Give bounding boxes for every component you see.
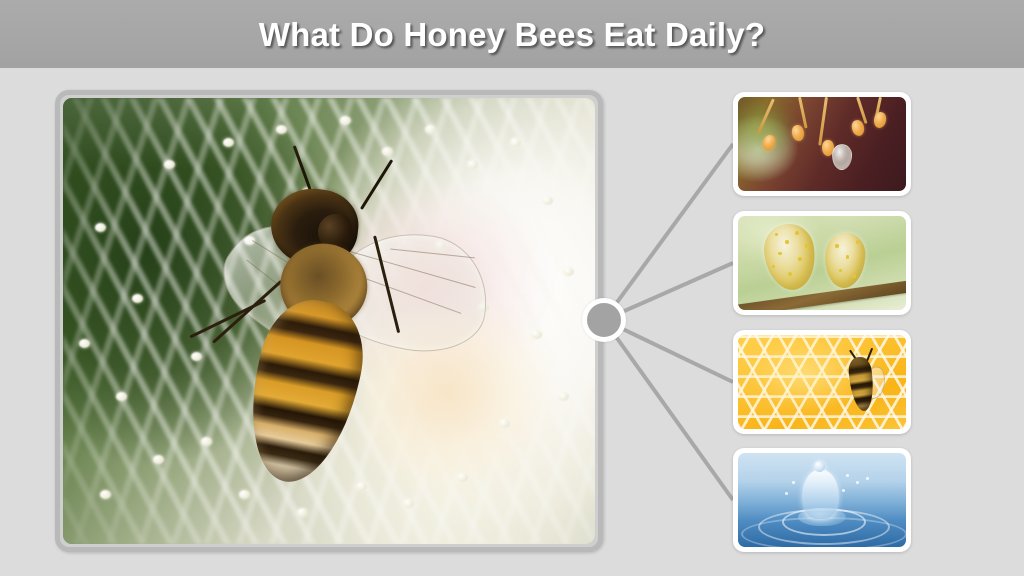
- main-image-bee-on-flower: [63, 98, 595, 544]
- thumbnail-image-honeycomb: [738, 335, 906, 429]
- honeycomb-bee: [842, 352, 882, 416]
- center-hub-node[interactable]: [582, 298, 626, 342]
- page-title: What Do Honey Bees Eat Daily?: [259, 18, 765, 51]
- water-splash-column: [802, 470, 839, 519]
- nectar-droplet: [832, 144, 852, 170]
- thumbnail-card-honey[interactable]: [733, 330, 911, 434]
- main-image-frame[interactable]: [55, 90, 603, 552]
- connector-line-water: [604, 320, 733, 500]
- thumbnail-image-water: [738, 453, 906, 547]
- honeycomb-bee-body: [847, 356, 876, 412]
- flower-anther: [790, 124, 805, 142]
- leaf-blur: [738, 103, 792, 159]
- flower-anther: [873, 111, 888, 129]
- slide-canvas: What Do Honey Bees Eat Daily?: [0, 0, 1024, 576]
- thumbnail-card-pollen[interactable]: [733, 211, 911, 315]
- thumbnail-image-pollen: [738, 216, 906, 310]
- willow-catkin: [761, 220, 820, 292]
- thumbnail-card-nectar[interactable]: [733, 92, 911, 196]
- connector-line-nectar: [604, 144, 733, 320]
- header-bar: What Do Honey Bees Eat Daily?: [0, 0, 1024, 68]
- tree-branch: [738, 278, 906, 310]
- thumbnail-image-nectar: [738, 97, 906, 191]
- willow-catkin: [824, 232, 868, 289]
- main-image-highlight: [63, 98, 595, 169]
- thumbnail-card-water[interactable]: [733, 448, 911, 552]
